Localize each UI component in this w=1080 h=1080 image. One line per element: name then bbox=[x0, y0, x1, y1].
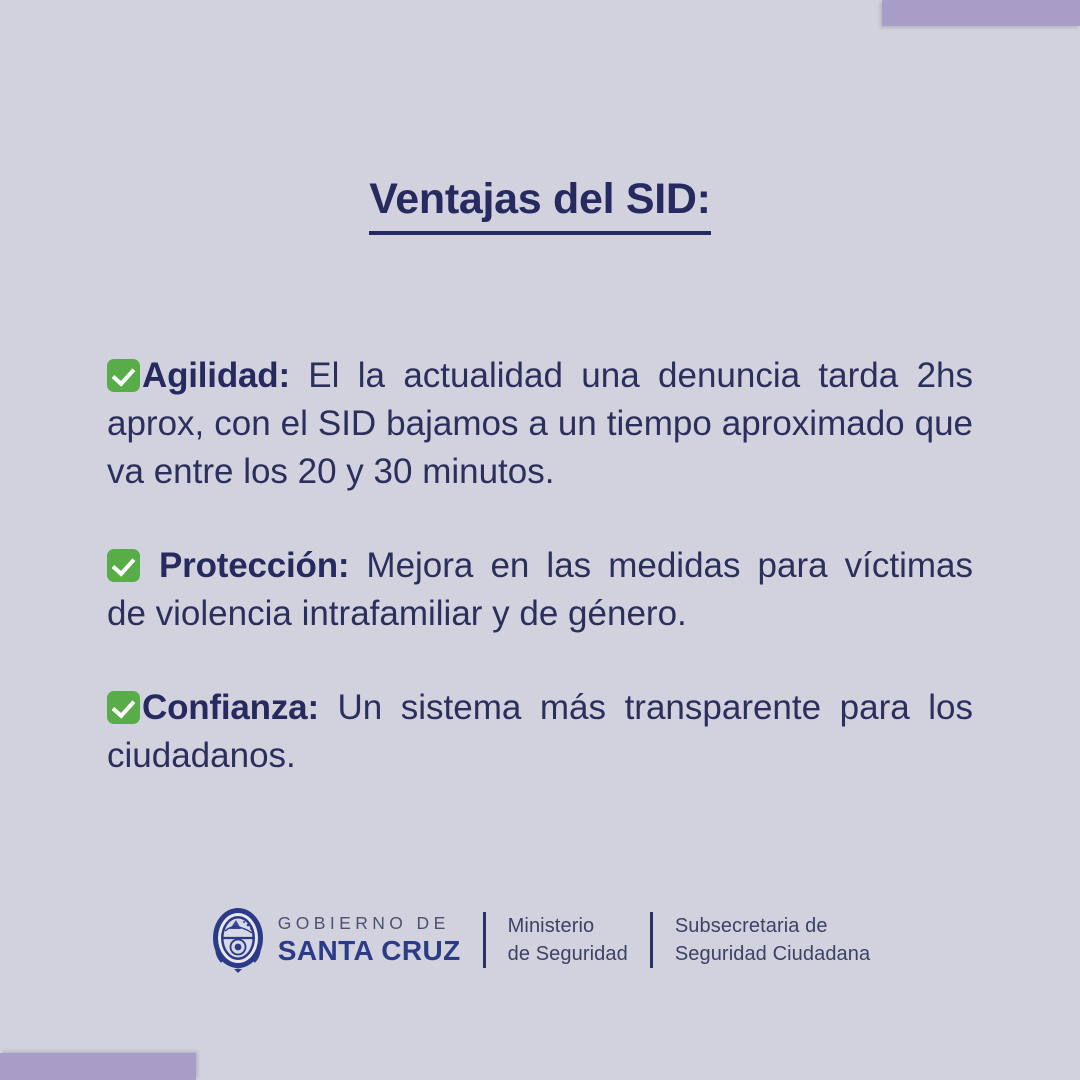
footer-branding: GOBIERNO DE SANTA CRUZ Ministerio de Seg… bbox=[0, 905, 1080, 975]
list-item-separator: : bbox=[338, 546, 349, 585]
footer-divider bbox=[650, 912, 653, 968]
page-title-text: Ventajas del SID: bbox=[369, 174, 710, 235]
green-check-icon bbox=[107, 691, 140, 724]
list-item-separator: : bbox=[307, 688, 318, 727]
footer-divider bbox=[483, 912, 486, 968]
green-check-icon bbox=[107, 359, 140, 392]
list-item: Agilidad: El la actualidad una denuncia … bbox=[107, 352, 973, 496]
ministry-label: Ministerio de Seguridad bbox=[508, 912, 628, 968]
list-item: Protección: Mejora en las medidas para v… bbox=[107, 542, 973, 638]
list-item: Confianza: Un sistema más transparente p… bbox=[107, 684, 973, 780]
santa-cruz-coat-of-arms-icon bbox=[210, 905, 266, 975]
green-check-icon bbox=[107, 549, 140, 582]
subsecretariat-label: Subsecretaria de Seguridad Ciudadana bbox=[675, 912, 870, 968]
government-line-1: GOBIERNO DE bbox=[278, 915, 461, 933]
list-item-lead: Agilidad bbox=[142, 356, 278, 395]
page-title: Ventajas del SID: bbox=[0, 174, 1080, 235]
list-item-separator: : bbox=[278, 356, 289, 395]
slide-canvas: Ventajas del SID: Agilidad: El la actual… bbox=[0, 0, 1080, 1080]
government-wordmark: GOBIERNO DE SANTA CRUZ bbox=[278, 915, 461, 966]
decorative-corner-bar-top-right bbox=[882, 0, 1080, 26]
government-line-2: SANTA CRUZ bbox=[278, 937, 461, 965]
list-item-lead: Protección bbox=[159, 546, 338, 585]
decorative-corner-bar-bottom-left bbox=[0, 1053, 196, 1080]
advantages-list: Agilidad: El la actualidad una denuncia … bbox=[107, 317, 973, 780]
list-item-lead: Confianza bbox=[142, 688, 307, 727]
